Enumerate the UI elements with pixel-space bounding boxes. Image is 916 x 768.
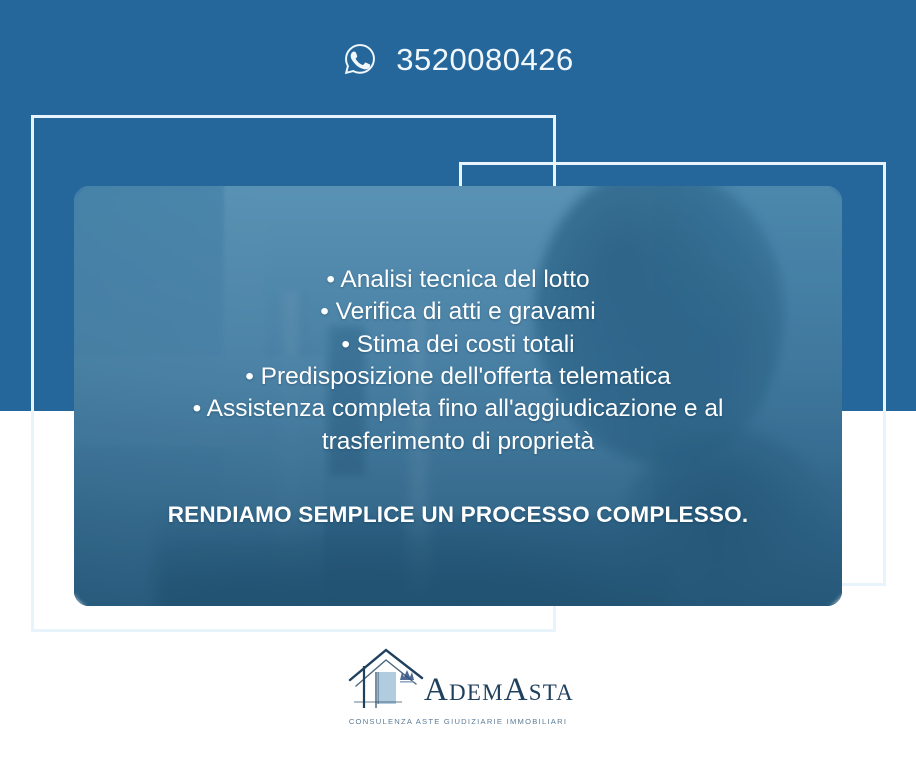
logo-tagline: CONSULENZA ASTE GIUDIZIARIE IMMOBILIARI: [349, 717, 567, 726]
list-item: Verifica di atti e gravami: [193, 296, 724, 328]
contact-header: 3520080426: [0, 35, 916, 83]
list-item: Stima dei costi totali: [193, 329, 724, 361]
brand-logo[interactable]: AdemAsta CONSULENZA ASTE GIUDIZIARIE IMM…: [0, 646, 916, 726]
card-content: Analisi tecnica del lotto Verifica di at…: [74, 186, 842, 606]
house-outline-icon: [342, 646, 428, 712]
poster-canvas: 3520080426 Analisi tecnica del lotto Ver…: [0, 0, 916, 768]
logo-wordmark: AdemAsta: [424, 674, 574, 712]
whatsapp-icon: [342, 41, 378, 77]
list-item: Predisposizione dell'offerta telematica: [193, 361, 724, 393]
service-bullet-list: Analisi tecnica del lotto Verifica di at…: [193, 264, 724, 458]
content-card: Analisi tecnica del lotto Verifica di at…: [74, 186, 842, 606]
logo-lockup: AdemAsta: [342, 646, 574, 712]
card-tagline: RENDIAMO SEMPLICE UN PROCESSO COMPLESSO.: [168, 502, 749, 528]
list-item: Analisi tecnica del lotto: [193, 264, 724, 296]
phone-number[interactable]: 3520080426: [396, 44, 573, 75]
list-item: Assistenza completa fino all'aggiudicazi…: [193, 393, 724, 458]
